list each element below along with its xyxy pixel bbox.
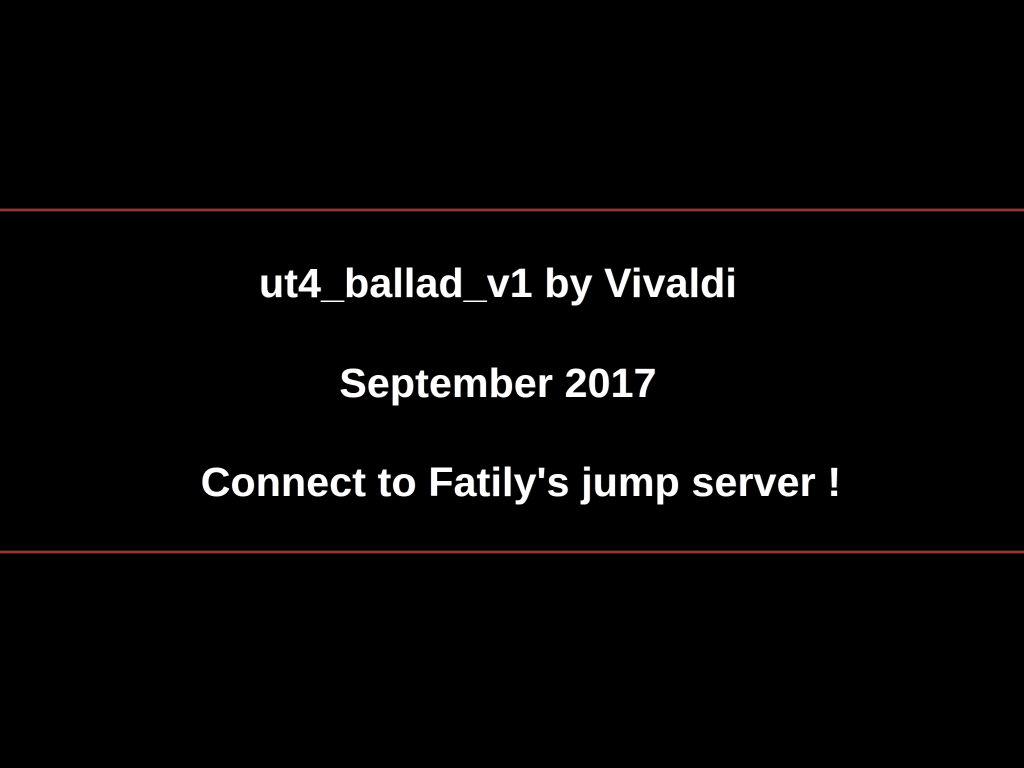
motd-line-map-title: ut4_ballad_v1 by Vivaldi — [259, 262, 737, 305]
motd-message-panel: ut4_ballad_v1 by Vivaldi September 2017 … — [0, 211, 1024, 551]
motd-line-server-invite: Connect to Fatily's jump server ! — [201, 461, 842, 504]
bottom-divider-rule — [0, 551, 1024, 553]
motd-line-date: September 2017 — [339, 362, 656, 405]
motd-screen: ut4_ballad_v1 by Vivaldi September 2017 … — [0, 0, 1024, 768]
